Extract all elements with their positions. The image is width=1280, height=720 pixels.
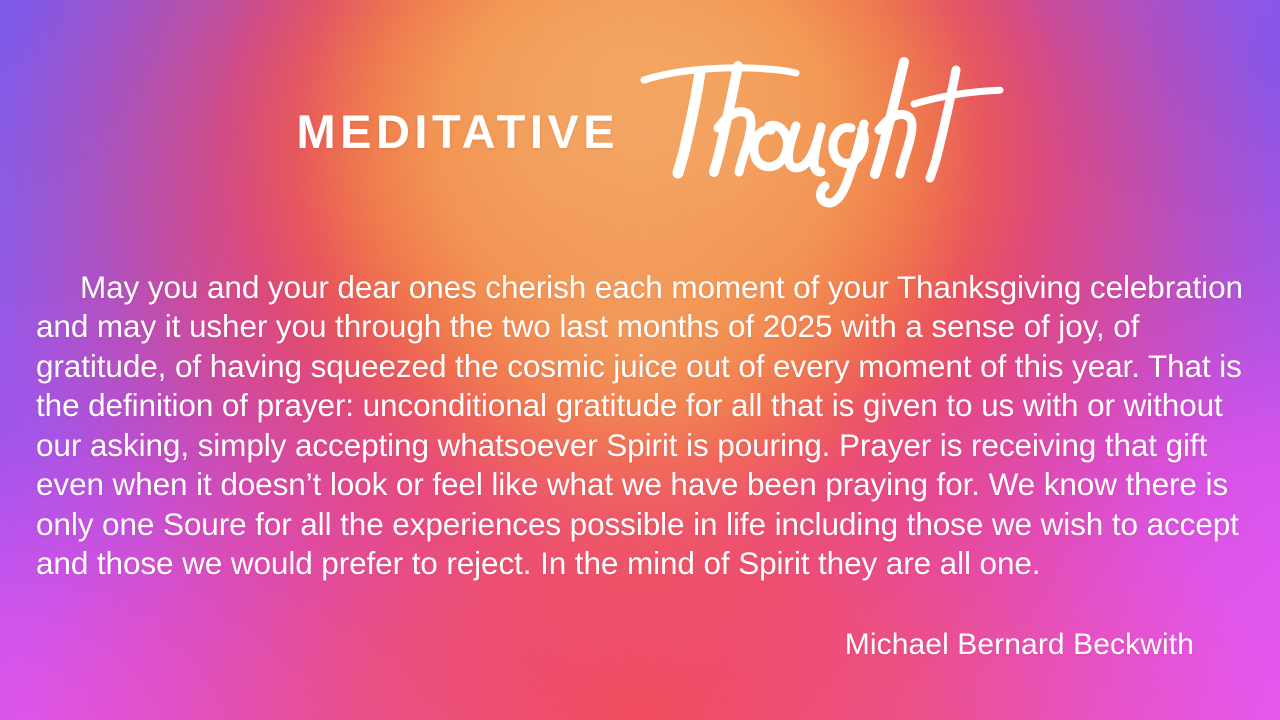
title-word-thought-script bbox=[638, 56, 998, 186]
quote-paragraph: May you and your dear ones cherish each … bbox=[36, 268, 1254, 584]
quote-body: May you and your dear ones cherish each … bbox=[36, 236, 1254, 615]
slide-title: MEDITATIVE bbox=[0, 58, 1280, 168]
attribution-author-name: Michael Bernard Beckwith bbox=[845, 626, 1194, 664]
title-word-meditative: MEDITATIVE bbox=[296, 108, 619, 155]
quote-slide: MEDITATIVE bbox=[0, 0, 1280, 720]
attribution: Michael Bernard Beckwith bbox=[845, 626, 1194, 664]
